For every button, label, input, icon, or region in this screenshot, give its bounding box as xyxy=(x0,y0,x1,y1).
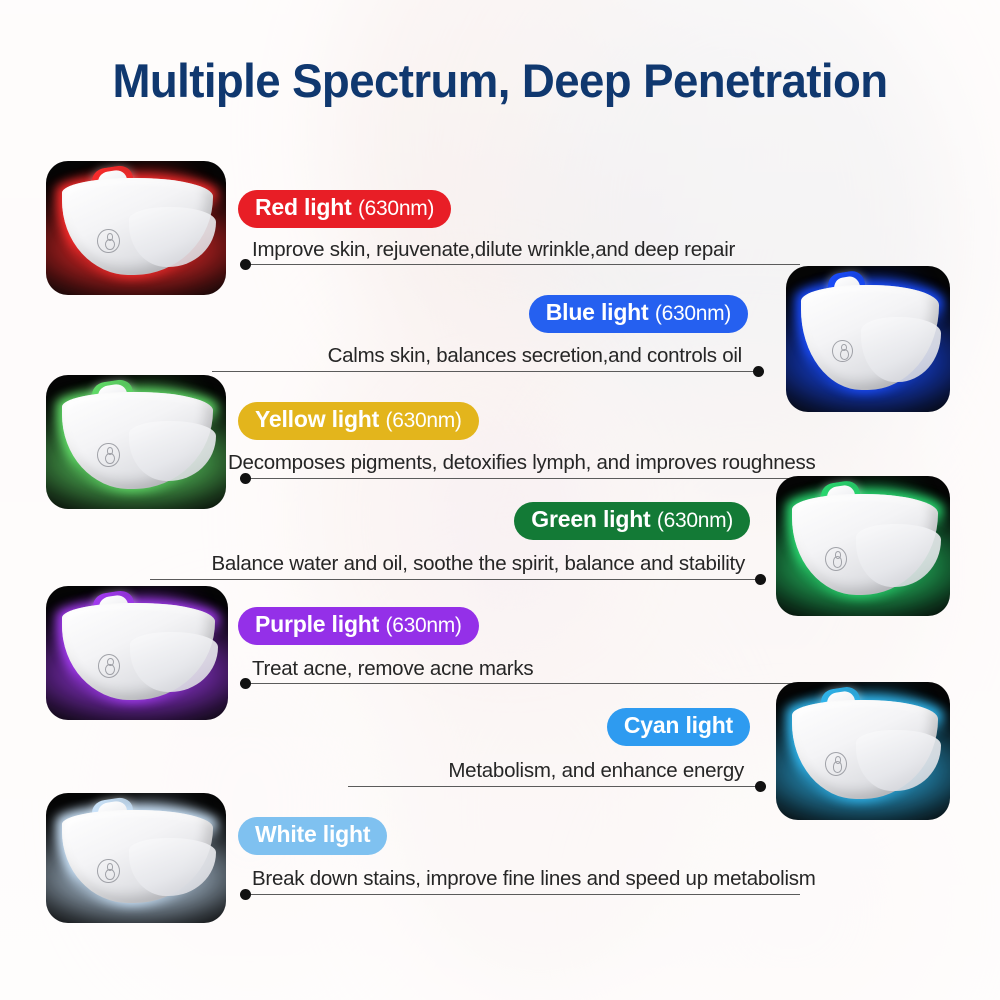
connector-dot xyxy=(240,473,251,484)
badge-name: Purple light xyxy=(255,611,379,637)
connector-line-red xyxy=(240,259,800,271)
badge-name: Blue light xyxy=(546,299,649,325)
device-logo-icon xyxy=(97,229,120,254)
product-thumbnail-blue xyxy=(786,266,950,412)
light-badge-green: Green light (630nm) xyxy=(514,502,750,540)
light-description-cyan: Metabolism, and enhance energy xyxy=(448,759,744,783)
badge-wavelength: (630nm) xyxy=(657,509,733,532)
badge-wavelength: (630nm) xyxy=(358,197,434,220)
light-badge-blue: Blue light (630nm) xyxy=(529,295,748,333)
light-description-blue: Calms skin, balances secretion,and contr… xyxy=(328,344,742,368)
device-illustration xyxy=(801,285,939,390)
light-description-yellow: Decomposes pigments, detoxifies lymph, a… xyxy=(228,451,816,475)
light-badge-purple: Purple light (630nm) xyxy=(238,607,479,645)
connector-dot xyxy=(755,574,766,585)
product-thumbnail-white xyxy=(46,793,226,923)
page-title: Multiple Spectrum, Deep Penetration xyxy=(15,56,985,106)
connector-dot xyxy=(240,259,251,270)
connector-dot xyxy=(753,366,764,377)
light-description-green: Balance water and oil, soothe the spirit… xyxy=(211,552,745,576)
badge-name: White light xyxy=(255,821,370,847)
device-illustration xyxy=(792,494,938,595)
product-thumbnail-red xyxy=(46,161,226,295)
light-description-white: Break down stains, improve fine lines an… xyxy=(252,867,816,891)
device-logo-icon xyxy=(825,547,847,571)
badge-name: Cyan light xyxy=(624,712,733,738)
badge-name: Red light xyxy=(255,194,352,220)
badge-wavelength: (630nm) xyxy=(386,614,462,637)
connector-line-white xyxy=(240,889,800,901)
product-thumbnail-cyan xyxy=(776,682,950,820)
connector-dot xyxy=(240,889,251,900)
connector-line-cyan xyxy=(348,781,766,793)
badge-wavelength: (630nm) xyxy=(655,302,731,325)
connector-line-blue xyxy=(212,366,764,378)
device-logo-icon xyxy=(825,752,847,776)
device-illustration xyxy=(62,603,215,699)
connector-line-purple xyxy=(240,678,800,690)
device-logo-icon xyxy=(97,443,120,468)
product-thumbnail-green xyxy=(776,476,950,616)
device-logo-icon xyxy=(832,340,853,363)
connector-line-yellow xyxy=(240,473,800,485)
light-badge-red: Red light (630nm) xyxy=(238,190,451,228)
product-thumbnail-yellow xyxy=(46,375,226,509)
connector-line-green xyxy=(150,574,766,586)
infographic-page: Multiple Spectrum, Deep Penetration Red … xyxy=(0,0,1000,1000)
light-badge-cyan: Cyan light xyxy=(607,708,750,746)
device-logo-icon xyxy=(97,859,120,884)
light-badge-yellow: Yellow light (630nm) xyxy=(238,402,479,440)
badge-name: Green light xyxy=(531,506,650,532)
device-illustration xyxy=(62,178,213,274)
light-badge-white: White light xyxy=(238,817,387,855)
device-illustration xyxy=(62,392,213,488)
product-thumbnail-purple xyxy=(46,586,228,720)
connector-dot xyxy=(755,781,766,792)
device-illustration xyxy=(792,700,938,799)
badge-wavelength: (630nm) xyxy=(386,409,462,432)
connector-dot xyxy=(240,678,251,689)
badge-name: Yellow light xyxy=(255,406,379,432)
device-illustration xyxy=(62,810,213,904)
